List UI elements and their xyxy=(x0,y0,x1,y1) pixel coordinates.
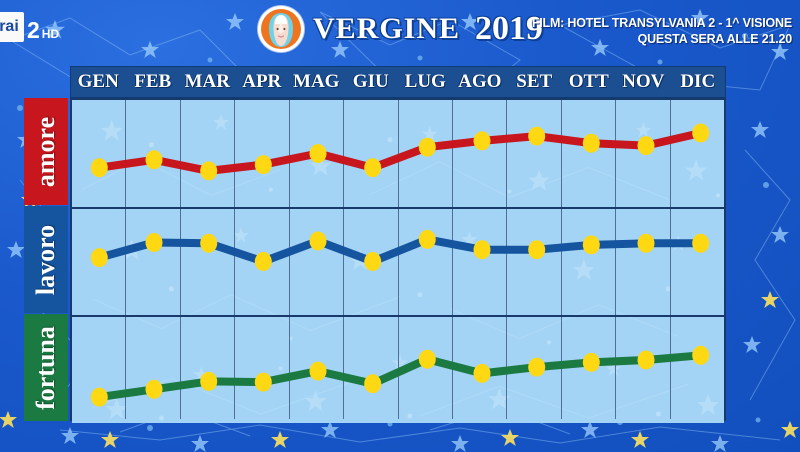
month-label-mag: MAG xyxy=(289,67,344,97)
hd-badge: HD xyxy=(42,28,59,40)
month-label-giu: GIU xyxy=(344,67,399,97)
promo-line-2: QUESTA SERA ALLE 21.20 xyxy=(532,32,792,48)
category-labels: amore lavoro fortuna xyxy=(24,98,68,421)
row-label-lavoro-text: lavoro xyxy=(31,224,61,294)
row-label-lavoro: lavoro xyxy=(24,206,68,313)
gridline-cell-set xyxy=(507,100,561,419)
gridline-cell-mar xyxy=(181,100,235,419)
band-divider-1 xyxy=(72,207,724,209)
month-label-dic: DIC xyxy=(671,67,726,97)
band-divider-2 xyxy=(72,315,724,317)
gridline-cell-mag xyxy=(290,100,344,419)
channel-number: 2 xyxy=(27,19,40,42)
month-label-lug: LUG xyxy=(398,67,453,97)
row-label-fortuna: fortuna xyxy=(24,314,68,421)
month-label-gen: GEN xyxy=(71,67,126,97)
month-label-feb: FEB xyxy=(126,67,181,97)
channel-logo: rai 2 HD xyxy=(0,12,59,42)
gridline-cell-gen xyxy=(72,100,126,419)
month-label-ott: OTT xyxy=(562,67,617,97)
gridline-cell-nov xyxy=(616,100,670,419)
rai-logo-mark: rai xyxy=(0,12,24,42)
zodiac-sign-name: VERGINE xyxy=(313,12,460,46)
promo-banner: FILM: HOTEL TRANSYLVANIA 2 - 1^ VISIONE … xyxy=(532,16,792,47)
horoscope-chart: GENFEBMARAPRMAGGIULUGAGOSETOTTNOVDIC xyxy=(70,66,726,421)
row-label-fortuna-text: fortuna xyxy=(31,326,61,410)
screen: rai 2 HD VERGINE 2019 xyxy=(0,0,800,452)
gridline-cell-lug xyxy=(399,100,453,419)
gridline-cell-ott xyxy=(562,100,616,419)
promo-line-1: FILM: HOTEL TRANSYLVANIA 2 - 1^ VISIONE xyxy=(532,16,792,32)
month-label-set: SET xyxy=(507,67,562,97)
month-gridlines xyxy=(72,100,724,419)
month-axis: GENFEBMARAPRMAGGIULUGAGOSETOTTNOVDIC xyxy=(70,66,726,98)
month-label-nov: NOV xyxy=(616,67,671,97)
virgo-maiden-icon xyxy=(258,6,304,52)
month-label-apr: APR xyxy=(235,67,290,97)
gridline-cell-ago xyxy=(453,100,507,419)
month-label-ago: AGO xyxy=(453,67,508,97)
gridline-cell-apr xyxy=(235,100,289,419)
gridline-cell-giu xyxy=(344,100,398,419)
gridline-cell-feb xyxy=(126,100,180,419)
month-label-mar: MAR xyxy=(180,67,235,97)
zodiac-title-group: VERGINE 2019 xyxy=(258,6,543,52)
row-label-amore: amore xyxy=(24,98,68,205)
gridline-cell-dic xyxy=(671,100,724,419)
chart-grid xyxy=(70,98,726,421)
header-bar: rai 2 HD VERGINE 2019 xyxy=(0,0,800,62)
row-label-amore-text: amore xyxy=(31,116,61,186)
